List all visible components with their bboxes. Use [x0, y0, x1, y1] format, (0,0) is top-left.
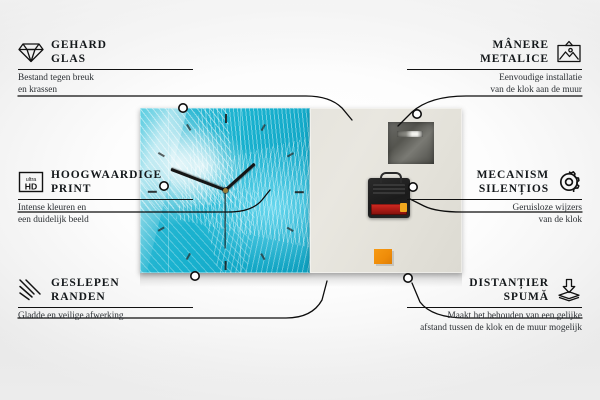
callout-hoogwaardige-print[interactable]: ultra HD HOOGWAARDIGE PRINT Intense kleu…	[18, 168, 193, 226]
callout-rule	[18, 69, 193, 70]
callout-subtitle: Bestand tegen breuk en krassen	[18, 73, 193, 96]
callout-subtitle: Maakt het behouden van een gelijke afsta…	[407, 311, 582, 334]
callout-rule	[18, 307, 193, 308]
callout-rule	[407, 199, 582, 200]
callout-subtitle: Eenvoudige installatie van de klok aan d…	[407, 73, 582, 96]
callout-rule	[407, 307, 582, 308]
callout-title: GESLEPEN RANDEN	[51, 276, 120, 304]
callout-title: MÂNERE METALICE	[480, 38, 549, 66]
diamond-icon	[18, 40, 44, 64]
wall-mount-picture-icon	[556, 40, 582, 64]
callout-header: GESLEPEN RANDEN	[18, 276, 193, 304]
callout-title: DISTANȚIER SPUMĂ	[469, 276, 549, 304]
leader-dot-manere-metalice	[413, 110, 421, 118]
callout-subtitle: Geruisloze wijzers van de klok	[407, 203, 582, 226]
gear-icon	[556, 170, 582, 194]
callout-header: MECANISM SILENȚIOS	[407, 168, 582, 196]
svg-text:HD: HD	[25, 181, 37, 191]
callout-header: MÂNERE METALICE	[407, 38, 582, 66]
callout-subtitle: Gladde en veilige afwerking	[18, 311, 193, 323]
callout-title: HOOGWAARDIGE PRINT	[51, 168, 162, 196]
ultra-hd-icon: ultra HD	[18, 170, 44, 194]
callout-rule	[18, 199, 193, 200]
callout-header: DISTANȚIER SPUMĂ	[407, 276, 582, 304]
callout-title: MECANISM SILENȚIOS	[477, 168, 549, 196]
callout-header: ultra HD HOOGWAARDIGE PRINT	[18, 168, 193, 196]
infographic-canvas: GEHARD GLAS Bestand tegen breuk en krass…	[0, 0, 600, 400]
foam-spacer-icon	[556, 278, 582, 302]
callout-mecanism-silentios[interactable]: MECANISM SILENȚIOS Geruisloze wijzers va…	[407, 168, 582, 226]
bevelled-edges-icon	[18, 278, 44, 302]
callout-geslepen-randen[interactable]: GESLEPEN RANDEN Gladde en veilige afwerk…	[18, 276, 193, 323]
callout-header: GEHARD GLAS	[18, 38, 193, 66]
callout-distantier-spuma[interactable]: DISTANȚIER SPUMĂ Maakt het behouden van …	[407, 276, 582, 334]
callout-rule	[407, 69, 582, 70]
callout-subtitle: Intense kleuren en een duidelijk beeld	[18, 203, 193, 226]
leader-line-manere-metalice	[398, 96, 582, 126]
leader-dot-gehard-glas	[179, 104, 187, 112]
callout-manere-metalice[interactable]: MÂNERE METALICE Eenvoudige installatie v…	[407, 38, 582, 96]
callout-gehard-glas[interactable]: GEHARD GLAS Bestand tegen breuk en krass…	[18, 38, 193, 96]
callout-title: GEHARD GLAS	[51, 38, 107, 66]
